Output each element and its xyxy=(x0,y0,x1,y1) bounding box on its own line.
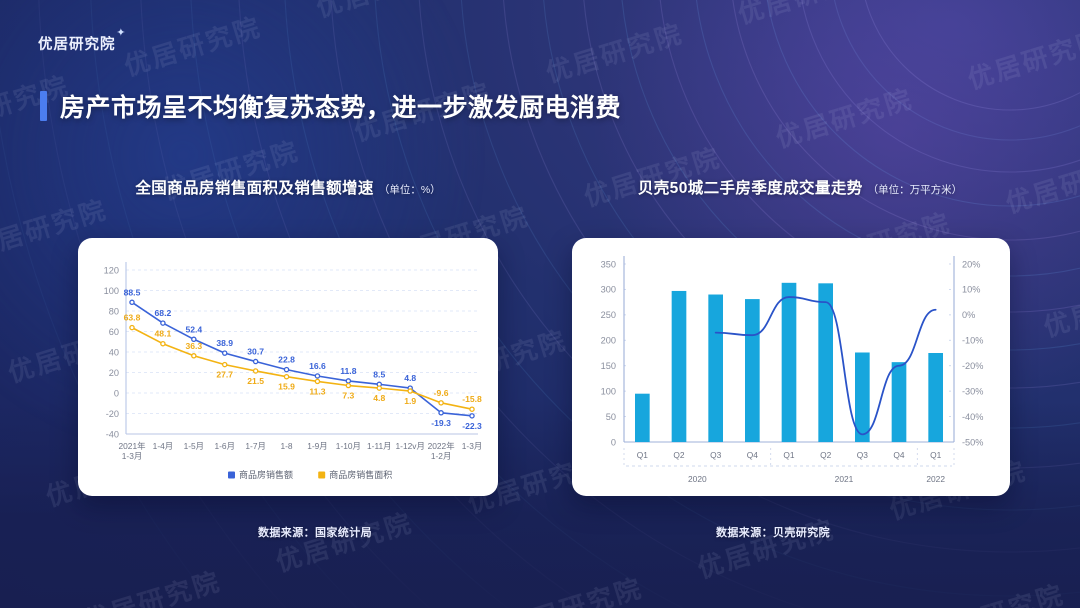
brand-logo-text: 优居研究院 xyxy=(38,37,116,53)
svg-text:20%: 20% xyxy=(962,259,980,269)
svg-text:48.1: 48.1 xyxy=(155,329,172,339)
bar-chart-secondhand-volume: 35030025020015010050020%10%0%-10%-20%-30… xyxy=(572,238,1010,496)
svg-text:4.8: 4.8 xyxy=(404,373,416,383)
svg-text:36.3: 36.3 xyxy=(185,341,202,351)
svg-text:2022年: 2022年 xyxy=(428,441,455,451)
svg-text:120: 120 xyxy=(104,265,119,275)
svg-text:11.8: 11.8 xyxy=(340,366,356,376)
svg-text:2021年: 2021年 xyxy=(118,441,145,451)
slide-root: 优居研究院 优居研究院 优居研究院 优居研究院 优居研究院 优居研究院 优居研究… xyxy=(0,0,1080,608)
svg-text:Q3: Q3 xyxy=(857,450,869,460)
svg-text:300: 300 xyxy=(601,285,616,295)
line-chart-sales-growth: 120100806040200-20-4088.568.252.438.930.… xyxy=(78,238,498,496)
panel-left-title-text: 全国商品房销售面积及销售额增速 xyxy=(135,176,374,198)
svg-text:50: 50 xyxy=(606,412,616,422)
svg-text:Q3: Q3 xyxy=(710,450,722,460)
svg-text:Q2: Q2 xyxy=(673,450,685,460)
svg-text:1-11月: 1-11月 xyxy=(367,441,392,451)
svg-text:1-4月: 1-4月 xyxy=(153,441,173,451)
panel-right-unit: （单位：万平方米） xyxy=(868,182,963,197)
panel-left-header: 全国商品房销售面积及销售额增速 （单位：%） xyxy=(78,176,498,198)
svg-text:Q4: Q4 xyxy=(747,450,759,460)
svg-text:20: 20 xyxy=(109,368,119,378)
svg-text:1-10月: 1-10月 xyxy=(336,441,361,451)
svg-text:68.2: 68.2 xyxy=(155,308,172,318)
svg-text:2022: 2022 xyxy=(926,474,945,484)
svg-text:200: 200 xyxy=(601,336,616,346)
svg-text:-15.8: -15.8 xyxy=(462,394,482,404)
svg-text:2021: 2021 xyxy=(835,474,854,484)
svg-text:100: 100 xyxy=(104,286,119,296)
svg-text:250: 250 xyxy=(601,310,616,320)
svg-text:Q4: Q4 xyxy=(893,450,905,460)
page-title-text: 房产市场呈不均衡复苏态势，进一步激发厨电消费 xyxy=(60,88,621,124)
panel-right-header: 贝壳50城二手房季度成交量走势 （单位：万平方米） xyxy=(590,176,1010,198)
svg-text:1-3月: 1-3月 xyxy=(462,441,482,451)
svg-text:Q2: Q2 xyxy=(820,450,832,460)
svg-text:52.4: 52.4 xyxy=(185,324,202,334)
brand-logo: 优居研究院 ✦ xyxy=(38,33,116,54)
svg-text:Q1: Q1 xyxy=(783,450,795,460)
svg-text:38.9: 38.9 xyxy=(216,338,233,348)
svg-text:2020: 2020 xyxy=(688,474,707,484)
svg-text:60: 60 xyxy=(109,327,119,337)
chart-card-right: 35030025020015010050020%10%0%-10%-20%-30… xyxy=(572,238,1010,496)
svg-text:1.9: 1.9 xyxy=(404,396,416,406)
source-left: 数据来源：国家统计局 xyxy=(258,524,372,540)
source-right: 数据来源：贝壳研究院 xyxy=(716,524,830,540)
panel-left-title: 全国商品房销售面积及销售额增速 （单位：%） xyxy=(78,176,498,198)
svg-text:Q1: Q1 xyxy=(930,450,942,460)
svg-text:1-5月: 1-5月 xyxy=(184,441,204,451)
svg-text:1-6月: 1-6月 xyxy=(214,441,234,451)
svg-text:1-9月: 1-9月 xyxy=(307,441,327,451)
svg-text:15.9: 15.9 xyxy=(278,382,295,392)
svg-text:150: 150 xyxy=(601,361,616,371)
svg-text:-20%: -20% xyxy=(962,361,983,371)
panel-left-unit: （单位：%） xyxy=(379,182,441,197)
svg-text:10%: 10% xyxy=(962,285,980,295)
svg-text:-20: -20 xyxy=(106,409,119,419)
svg-text:40: 40 xyxy=(109,347,119,357)
svg-text:63.8: 63.8 xyxy=(124,313,141,323)
sparkle-icon: ✦ xyxy=(116,26,126,39)
svg-text:8.5: 8.5 xyxy=(373,369,385,379)
svg-text:1-8: 1-8 xyxy=(280,441,292,451)
svg-text:21.5: 21.5 xyxy=(247,376,264,386)
svg-text:-30%: -30% xyxy=(962,386,983,396)
svg-text:-22.3: -22.3 xyxy=(462,421,482,431)
svg-text:27.7: 27.7 xyxy=(216,370,233,380)
svg-text:Q1: Q1 xyxy=(637,450,649,460)
svg-text:0: 0 xyxy=(114,388,119,398)
title-accent-bar xyxy=(40,91,47,121)
svg-text:1-2月: 1-2月 xyxy=(431,451,451,461)
svg-text:30.7: 30.7 xyxy=(247,347,264,357)
svg-text:商品房销售额: 商品房销售额 xyxy=(239,469,293,480)
panel-right-title-text: 贝壳50城二手房季度成交量走势 xyxy=(638,176,863,198)
panel-right-title: 贝壳50城二手房季度成交量走势 （单位：万平方米） xyxy=(590,176,1010,198)
svg-text:商品房销售面积: 商品房销售面积 xyxy=(329,469,392,480)
svg-text:350: 350 xyxy=(601,259,616,269)
svg-text:100: 100 xyxy=(601,386,616,396)
chart-card-left: 120100806040200-20-4088.568.252.438.930.… xyxy=(78,238,498,496)
svg-text:0%: 0% xyxy=(962,310,975,320)
svg-text:1-7月: 1-7月 xyxy=(245,441,265,451)
svg-text:-10%: -10% xyxy=(962,336,983,346)
svg-text:88.5: 88.5 xyxy=(124,287,141,297)
svg-text:11.3: 11.3 xyxy=(309,386,325,396)
page-title: 房产市场呈不均衡复苏态势，进一步激发厨电消费 xyxy=(40,88,621,124)
svg-text:16.6: 16.6 xyxy=(309,361,326,371)
svg-text:80: 80 xyxy=(109,306,119,316)
svg-text:1-12v月: 1-12v月 xyxy=(396,441,425,451)
svg-text:-50%: -50% xyxy=(962,437,983,447)
svg-text:-19.3: -19.3 xyxy=(431,418,451,428)
svg-text:22.8: 22.8 xyxy=(278,355,295,365)
svg-text:7.3: 7.3 xyxy=(342,391,354,401)
svg-text:-40: -40 xyxy=(106,429,119,439)
svg-text:4.8: 4.8 xyxy=(373,393,385,403)
svg-text:-9.6: -9.6 xyxy=(434,388,449,398)
svg-text:-40%: -40% xyxy=(962,412,983,422)
svg-text:1-3月: 1-3月 xyxy=(122,451,142,461)
svg-text:0: 0 xyxy=(611,437,616,447)
